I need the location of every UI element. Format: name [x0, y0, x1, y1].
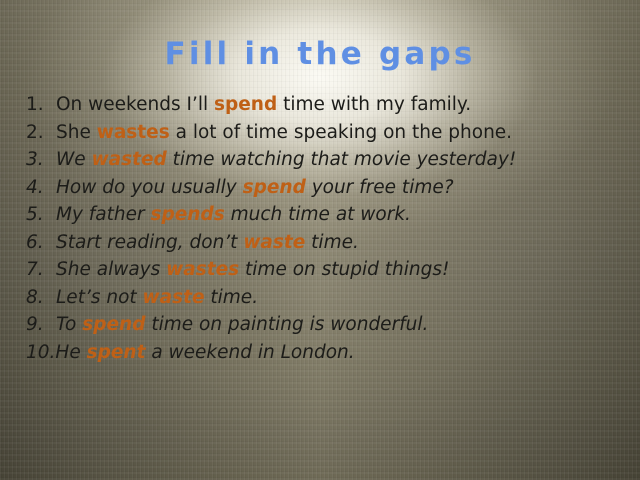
- list-item-text: She always wastes time on stupid things!: [56, 257, 616, 283]
- sentence-prefix: On weekends I’ll: [56, 94, 214, 115]
- sentence-prefix: She: [56, 122, 97, 143]
- sentence-suffix: time.: [305, 232, 359, 253]
- list-item-text: To spend time on painting is wonderful.: [56, 312, 616, 338]
- list-item-text: Let’s not waste time.: [56, 285, 616, 311]
- list-item: 1.On weekends I’ll spend time with my fa…: [26, 92, 616, 118]
- list-item: 5.My father spends much time at work.: [26, 202, 616, 228]
- answer-keyword: wasted: [92, 149, 167, 170]
- answer-keyword: wastes: [166, 259, 239, 280]
- answer-keyword: spend: [243, 177, 306, 198]
- list-item: 3.We wasted time watching that movie yes…: [26, 147, 616, 173]
- sentence-suffix: much time at work.: [225, 204, 411, 225]
- answer-keyword: spends: [151, 204, 225, 225]
- sentence-suffix: time.: [205, 287, 259, 308]
- page-title: Fill in the gaps: [0, 38, 640, 71]
- list-item-number: 8.: [26, 285, 56, 311]
- list-item-number: 2.: [26, 120, 56, 146]
- list-item-number: 1.: [26, 92, 56, 118]
- list-item-number: 3.: [26, 147, 56, 173]
- sentence-prefix: To: [56, 314, 82, 335]
- list-item: 7.She always wastes time on stupid thing…: [26, 257, 616, 283]
- list-item: 8.Let’s not waste time.: [26, 285, 616, 311]
- list-item-number: 9.: [26, 312, 56, 338]
- sentence-prefix: How do you usually: [56, 177, 243, 198]
- sentence-prefix: Start reading, don’t: [56, 232, 243, 253]
- list-item-text: She wastes a lot of time speaking on the…: [56, 120, 616, 146]
- list-item-text: We wasted time watching that movie yeste…: [56, 147, 616, 173]
- list-item: 2.She wastes a lot of time speaking on t…: [26, 120, 616, 146]
- list-item-text: On weekends I’ll spend time with my fami…: [56, 92, 616, 118]
- sentence-prefix: Let’s not: [56, 287, 143, 308]
- sentence-prefix: He: [55, 342, 86, 363]
- list-item-number: 6.: [26, 230, 56, 256]
- list-item-text: He spent a weekend in London.: [55, 340, 616, 366]
- list-item-text: How do you usually spend your free time?: [56, 175, 616, 201]
- answer-keyword: spend: [82, 314, 145, 335]
- list-item-text: My father spends much time at work.: [56, 202, 616, 228]
- list-item: 9.To spend time on painting is wonderful…: [26, 312, 616, 338]
- sentence-suffix: time watching that movie yesterday!: [167, 149, 516, 170]
- sentence-prefix: We: [56, 149, 92, 170]
- answer-keyword: waste: [243, 232, 305, 253]
- list-item-number: 5.: [26, 202, 56, 228]
- sentence-prefix: She always: [56, 259, 166, 280]
- sentence-suffix: time on painting is wonderful.: [145, 314, 428, 335]
- slide-canvas: Fill in the gaps 1.On weekends I’ll spen…: [0, 0, 640, 480]
- answer-keyword: waste: [143, 287, 205, 308]
- sentence-suffix: a lot of time speaking on the phone.: [170, 122, 512, 143]
- sentence-suffix: your free time?: [306, 177, 454, 198]
- sentence-prefix: My father: [56, 204, 151, 225]
- list-item-number: 10.: [26, 340, 55, 366]
- list-item: 4.How do you usually spend your free tim…: [26, 175, 616, 201]
- list-item-number: 4.: [26, 175, 56, 201]
- list-item: 6.Start reading, don’t waste time.: [26, 230, 616, 256]
- list-item-number: 7.: [26, 257, 56, 283]
- list-item-text: Start reading, don’t waste time.: [56, 230, 616, 256]
- sentence-suffix: time with my family.: [277, 94, 471, 115]
- exercise-list: 1.On weekends I’ll spend time with my fa…: [26, 92, 616, 367]
- sentence-suffix: time on stupid things!: [239, 259, 449, 280]
- answer-keyword: spend: [214, 94, 277, 115]
- sentence-suffix: a weekend in London.: [145, 342, 354, 363]
- answer-keyword: wastes: [97, 122, 170, 143]
- list-item: 10.He spent a weekend in London.: [26, 340, 616, 366]
- answer-keyword: spent: [87, 342, 146, 363]
- slide-content: Fill in the gaps 1.On weekends I’ll spen…: [0, 0, 640, 480]
